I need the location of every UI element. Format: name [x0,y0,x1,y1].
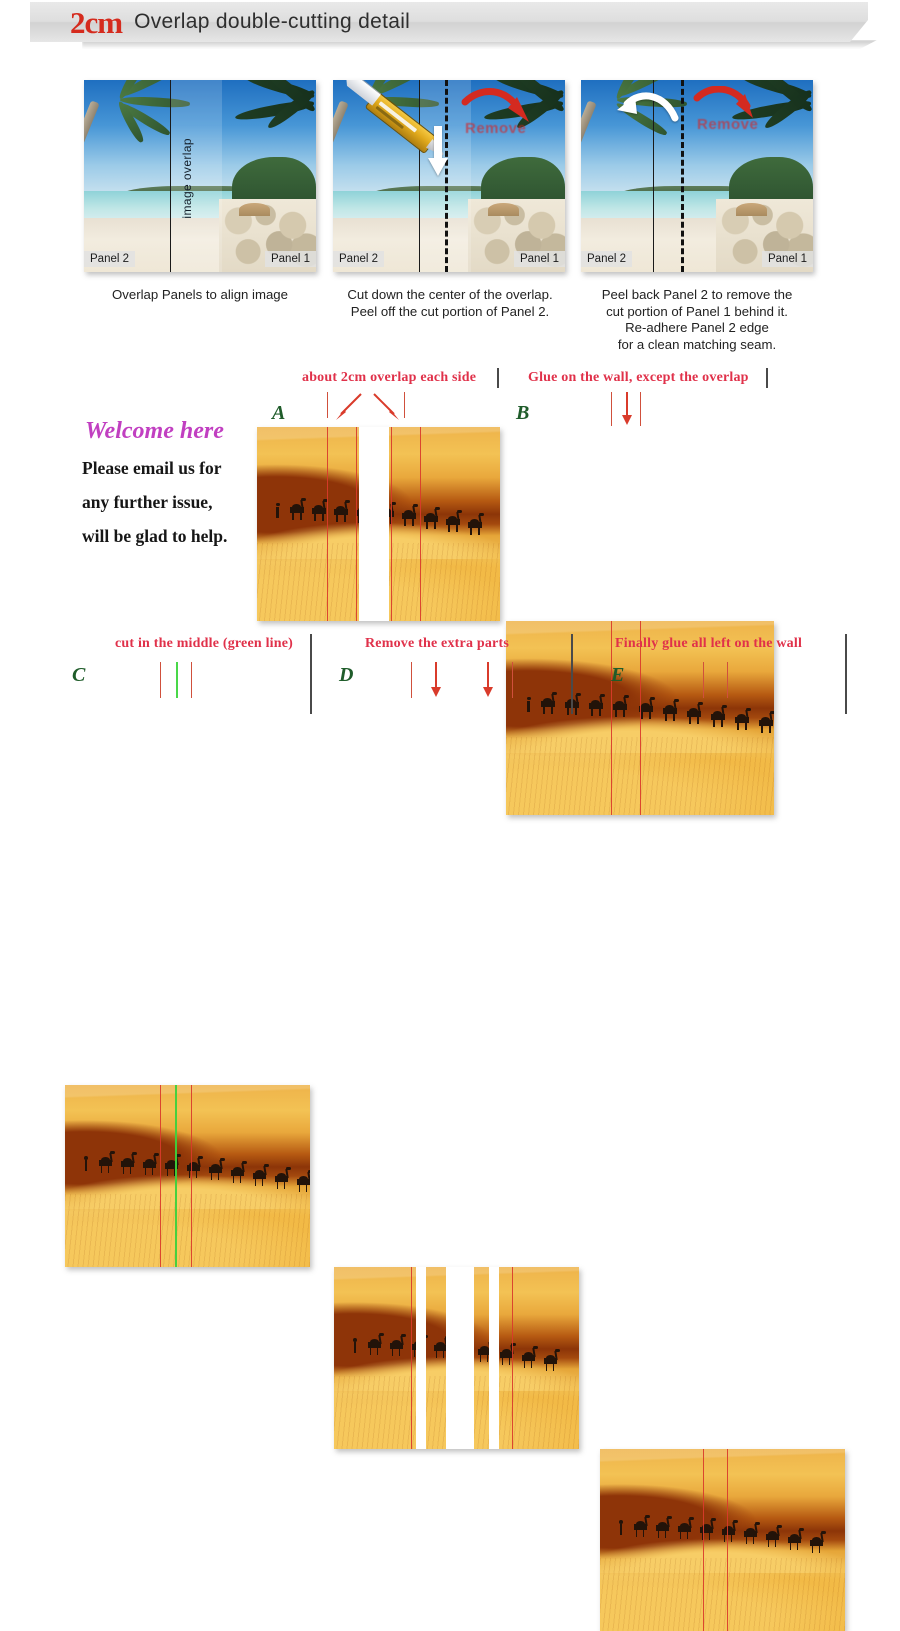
welcome-line-1: Please email us for [82,458,221,479]
overlap-center-line [170,80,171,272]
remove-label: Remove [465,120,526,137]
overlap-label: image overlap [180,138,194,219]
guide-line-1 [160,1085,161,1267]
step-b-note: Glue on the wall, except the overlap [528,370,749,386]
white-curved-arrow-icon [617,88,679,130]
step-c-guide-out-1 [160,662,161,698]
remove-label: Remove [697,116,758,133]
beach-umbrella [239,203,269,216]
step-c-green-out [176,662,178,698]
step-a-guide-out-2 [404,392,405,418]
sand-ripples [600,1558,845,1631]
panel-1-tag: Panel 1 [514,251,565,267]
page-title: Overlap double-cutting detail [134,10,410,34]
removed-strip-3 [489,1267,499,1449]
guide-line-1 [611,621,612,815]
step-b-guide-out-2 [640,392,641,426]
step-e-letter: E [611,664,624,687]
step-e-note: Finally glue all left on the wall [615,636,802,652]
panel-2-tag: Panel 2 [581,251,632,267]
guide-line-3 [391,427,392,621]
guide-line-1 [411,1267,412,1449]
step-c-guide-out-2 [191,662,192,698]
overlap-band [170,80,222,272]
step-d-bracket [571,634,573,714]
white-down-arrow-icon [427,126,449,178]
step-e-guide-out-2 [727,662,728,698]
panel-2-tag: Panel 2 [84,251,135,267]
guide-line-2 [191,1085,192,1267]
guide-line-2 [727,1449,728,1631]
welcome-line-2: any further issue, [82,492,212,513]
step-e-image [600,1449,845,1631]
step-d-guide-out-1 [411,662,412,698]
overlap-gap [359,427,389,621]
step3-photo: Remove Panel 2 Panel 1 [581,80,813,272]
guide-line-1 [327,427,328,621]
step1-caption: Overlap Panels to align image [84,287,316,304]
beach-umbrella [488,203,518,216]
measurement-badge: 2cm [70,7,122,38]
guide-line-2 [512,1267,513,1449]
guide-line-2 [356,427,357,621]
red-down-arrow-icon [620,392,634,426]
green-cut-line [175,1085,177,1267]
step-a-bracket [497,368,499,388]
step-d-letter: D [339,664,353,687]
camel-caravan [527,699,774,742]
overlap-edge-line [419,80,420,272]
camel-caravan [85,1158,310,1198]
red-diagonal-arrow-icon [372,392,402,422]
welcome-line-3: will be glad to help. [82,526,227,547]
header-banner: 2cm Overlap double-cutting detail [30,2,868,48]
step1-photo: image overlap Panel 2 Panel 1 [84,80,316,272]
panel-2-tag: Panel 2 [333,251,384,267]
red-down-arrow-icon [482,662,494,698]
cut-line [681,80,684,272]
step-b-bracket [766,368,768,388]
step-c-letter: C [72,664,85,687]
step3-caption: Peel back Panel 2 to remove the cut port… [573,287,821,353]
step-d-guide-out-2 [512,662,513,698]
sand-ripples [65,1194,310,1267]
panel-1-tag: Panel 1 [265,251,316,267]
panel-1-tag: Panel 1 [762,251,813,267]
step-b-letter: B [516,402,529,425]
beach-umbrella [736,203,766,216]
step2-photo: Remove Panel 2 Panel 1 [333,80,565,272]
step-e-guide-out-1 [703,662,704,698]
step-c-image [65,1085,310,1267]
removed-strip-1 [416,1267,426,1449]
step-d-image [334,1267,579,1449]
guide-line-4 [420,427,421,621]
step-a-note: about 2cm overlap each side [302,370,476,386]
guide-line-1 [703,1449,704,1631]
removed-strip-2 [446,1267,474,1449]
welcome-title: Welcome here [85,418,224,445]
red-down-arrow-icon [430,662,442,698]
step-a-image [257,427,500,621]
step-b-guide-out-1 [611,392,612,426]
step-e-bracket [845,634,847,714]
camel-caravan [620,1522,845,1562]
step-a-letter: A [272,402,285,425]
red-diagonal-arrow-icon [333,392,363,422]
step2-caption: Cut down the center of the overlap. Peel… [325,287,575,320]
step-d-note: Remove the extra parts [365,636,509,652]
step-c-bracket [310,634,312,714]
step-c-note: cut in the middle (green line) [115,636,293,652]
step-a-guide-out-1 [327,392,328,418]
banner-content: 2cm Overlap double-cutting detail [30,2,868,42]
palm-tree-right [214,80,316,161]
